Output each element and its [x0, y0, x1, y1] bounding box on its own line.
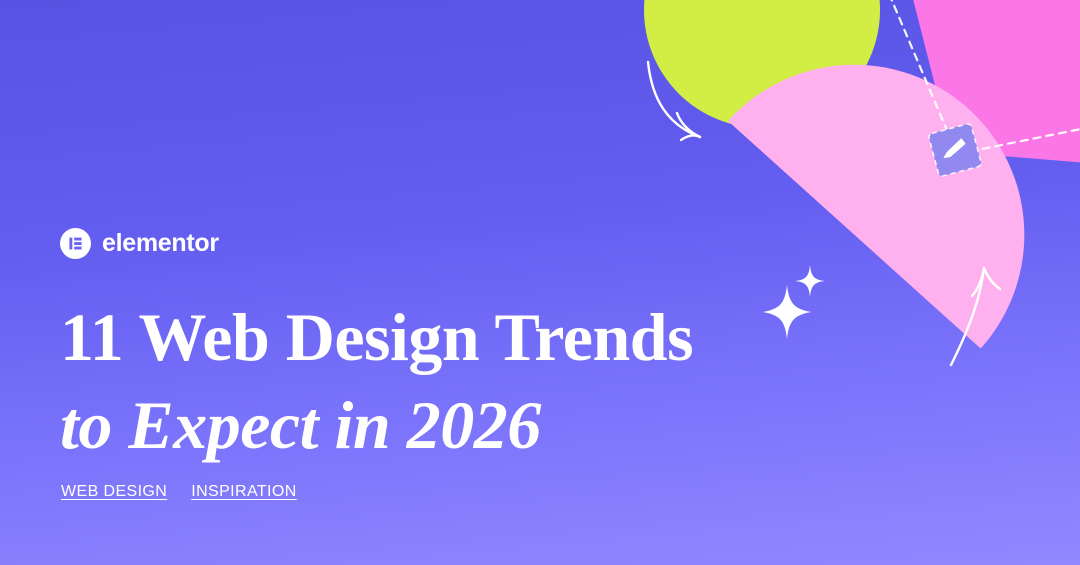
tag-web-design[interactable]: WEB DESIGN — [61, 483, 167, 501]
page-title: 11 Web Design Trends to Expect in 2026 — [60, 303, 820, 459]
tag-inspiration[interactable]: INSPIRATION — [191, 483, 296, 501]
elementor-logo-icon — [60, 228, 91, 259]
pink-semicircle-shape — [728, 0, 1080, 349]
dashed-selection-outline — [879, 0, 1080, 154]
hero-banner: elementor 11 Web Design Trends to Expect… — [0, 0, 1080, 565]
brand-logo[interactable]: elementor — [60, 228, 219, 259]
decorative-shapes-group — [0, 0, 1080, 565]
pink-rectangle-shape — [898, 0, 1080, 168]
brand-name: elementor — [102, 229, 219, 258]
green-circle-shape — [644, 0, 880, 128]
sparkle-star-small-icon — [795, 265, 825, 297]
edit-handle-pencil-icon[interactable] — [928, 123, 982, 177]
curved-arrow-up-icon — [951, 268, 1000, 365]
headline-line-1: 11 Web Design Trends — [60, 303, 820, 371]
curved-arrow-down-icon — [648, 62, 700, 140]
headline-line-2: to Expect in 2026 — [60, 391, 820, 459]
category-tags: WEB DESIGN INSPIRATION — [61, 483, 297, 501]
